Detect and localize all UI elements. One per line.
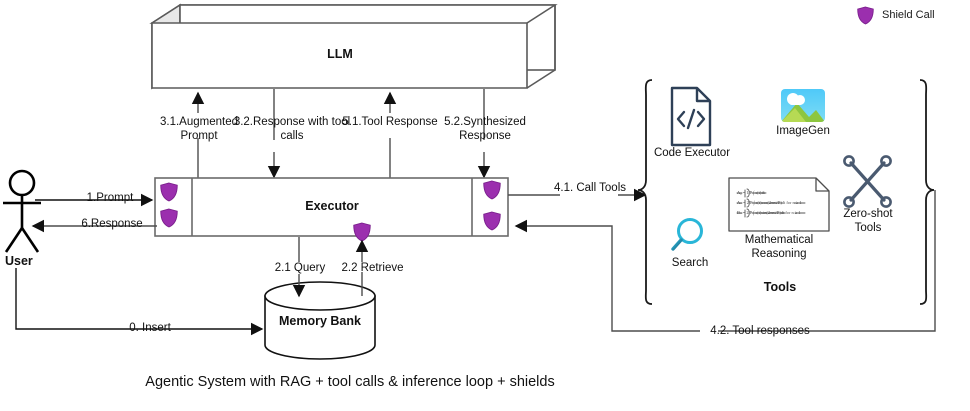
llm-label: LLM — [280, 48, 400, 62]
tool-label-search: Search — [655, 257, 725, 271]
edge-label-call-tools: 4.1. Call Tools — [540, 182, 640, 196]
edge-insert — [16, 268, 262, 329]
image-icon — [781, 89, 825, 122]
user-label: User — [0, 255, 57, 269]
user-figure-icon — [3, 171, 41, 252]
edge-label-response: 6.Response — [58, 218, 166, 232]
tools-group-label: Tools — [730, 281, 830, 295]
diagram-canvas: A₀ = 1/P ∫ s(t)dt Aₙ = 2/P ∫ s(t)cos(2πn… — [0, 0, 970, 411]
tool-label-imagegen: ImageGen — [763, 125, 843, 139]
tool-label-zero-shot-tools: Zero-shot Tools — [838, 208, 898, 235]
executor-label: Executor — [272, 200, 392, 214]
shield-icon — [354, 223, 371, 241]
code-document-icon — [672, 88, 710, 145]
legend-label: Shield Call — [882, 9, 935, 21]
edge-label-synthesized-response: 5.2.Synthesized Response — [425, 116, 545, 143]
edge-label-retrieve: 2.2 Retrieve — [325, 262, 420, 276]
tool-label-mathematical-reasoning: Mathematical Reasoning — [724, 234, 834, 261]
edge-label-insert: 0. Insert — [60, 322, 240, 336]
memory-bank-label: Memory Bank — [260, 315, 380, 329]
magnifier-icon — [673, 220, 702, 250]
legend-shield-icon — [858, 7, 874, 24]
crossed-wrenches-icon — [844, 156, 890, 206]
edge-label-response-with-tool-calls: 3.2.Response with tool calls — [233, 116, 351, 143]
llm-node[interactable] — [152, 5, 555, 88]
edge-label-prompt: 1.Prompt — [60, 192, 160, 206]
edge-label-tool-responses: 4.2. Tool responses — [700, 325, 820, 339]
tool-label-code-executor: Code Executor — [647, 147, 737, 161]
diagram-caption: Agentic System with RAG + tool calls & i… — [0, 374, 700, 390]
formula-document-icon: A₀ = 1/P ∫ s(t)dt Aₙ = 2/P ∫ s(t)cos(2πn… — [729, 178, 829, 231]
